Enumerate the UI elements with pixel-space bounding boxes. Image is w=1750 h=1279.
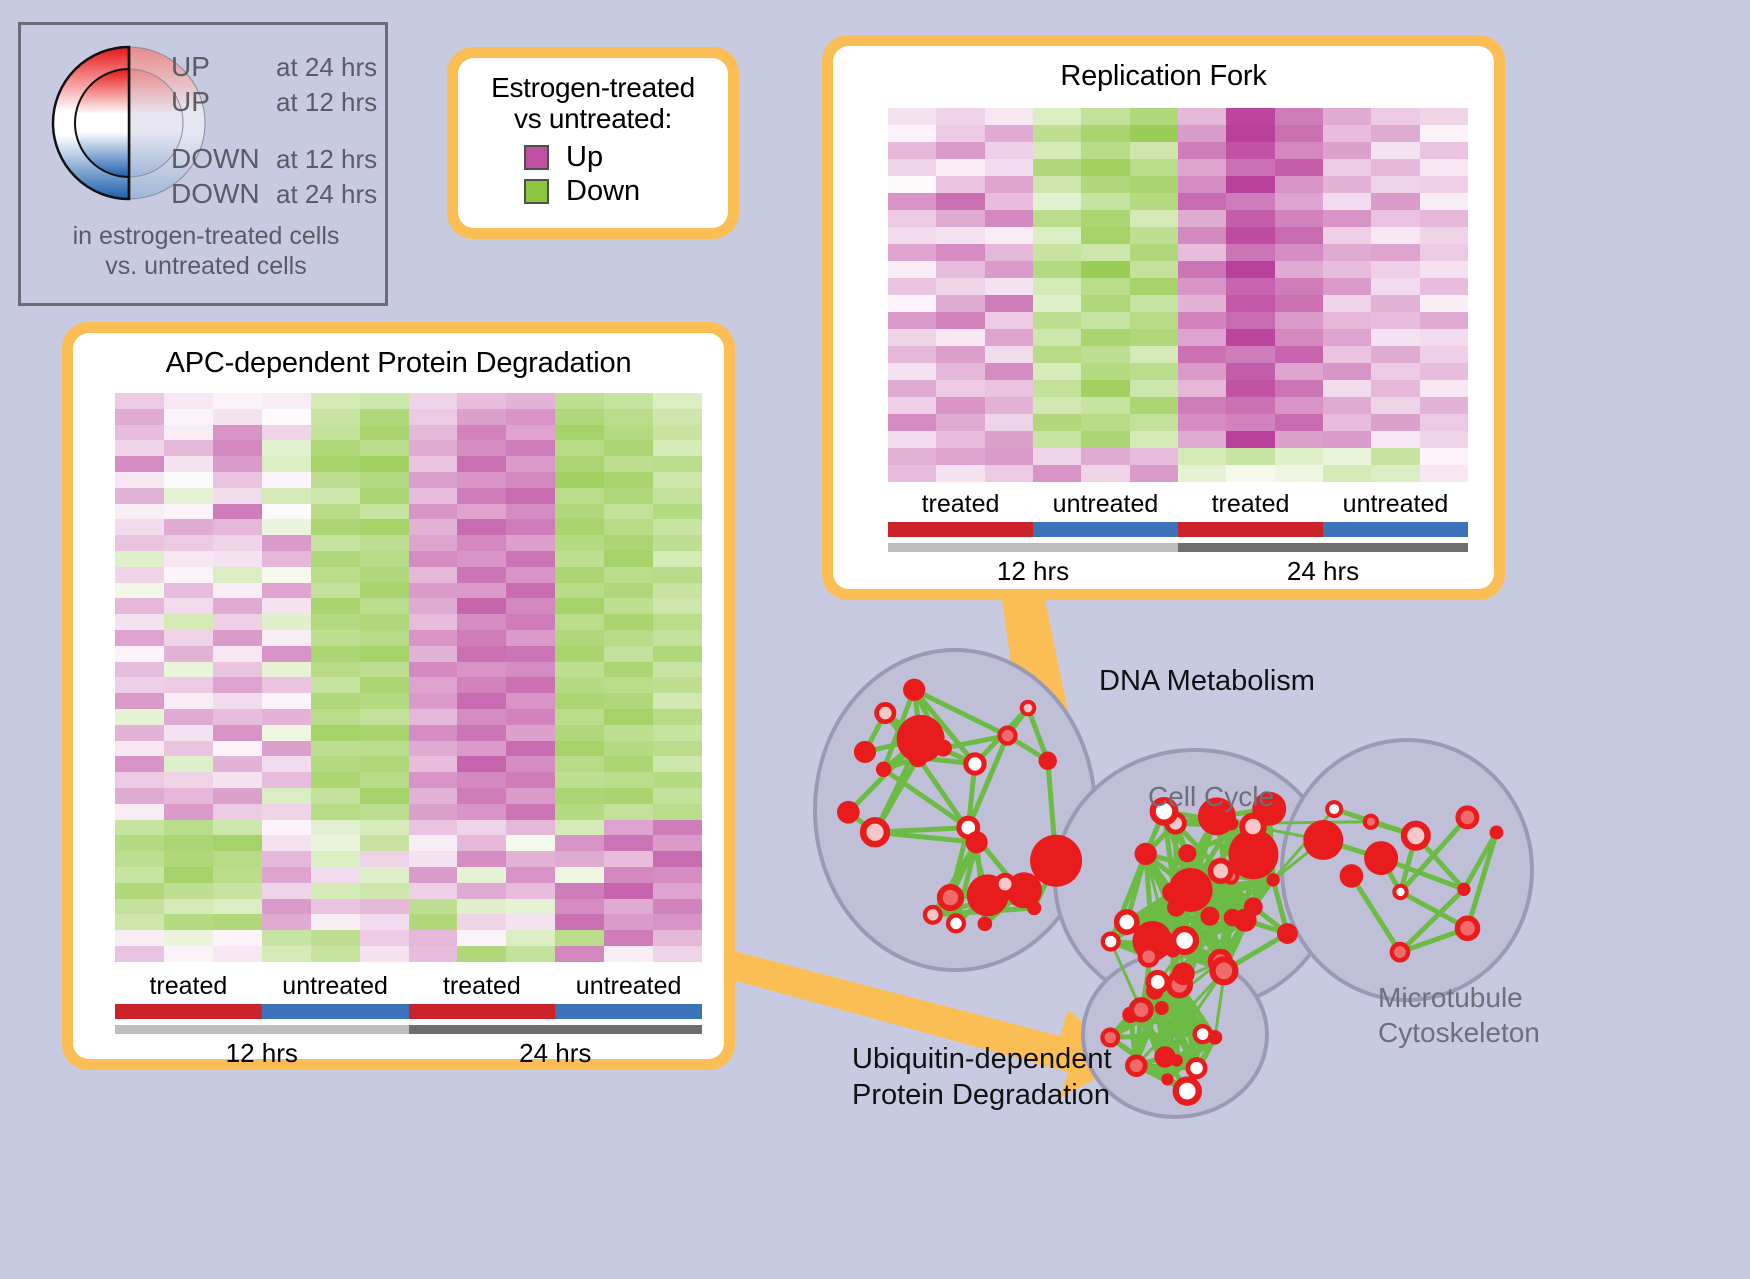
heatmap-cell	[164, 725, 213, 741]
heatmap-cell	[1130, 278, 1178, 295]
heatmap-cell	[1371, 227, 1419, 244]
heatmap-cell	[262, 598, 311, 614]
heatmap-cell	[1033, 142, 1081, 159]
heatmap-cell	[1275, 431, 1323, 448]
heatmap-cell	[653, 472, 702, 488]
network-node	[1000, 728, 1016, 744]
heatmap-cell	[115, 614, 164, 630]
heatmap-cell	[409, 788, 458, 804]
heatmap-cell	[1323, 414, 1371, 431]
heatmap-cell	[1371, 261, 1419, 278]
heatmap-cell	[985, 295, 1033, 312]
heatmap-cell	[1226, 414, 1274, 431]
network-node	[1172, 962, 1195, 985]
heatmap-cell	[457, 899, 506, 915]
heatmap-cell	[1323, 329, 1371, 346]
group-bar-treated-12	[115, 1004, 262, 1019]
heatmap-cell	[1323, 244, 1371, 261]
heatmap-cell	[213, 662, 262, 678]
heatmap-cell	[1081, 142, 1129, 159]
heatmap-cell	[457, 741, 506, 757]
sample-group-labels: treated untreated treated untreated	[888, 490, 1468, 519]
heatmap-cell	[1275, 227, 1323, 244]
network-node	[1490, 826, 1504, 840]
heatmap-cell	[653, 504, 702, 520]
heatmap-cell	[653, 914, 702, 930]
heatmap-cell	[1226, 193, 1274, 210]
heatmap-cell	[360, 930, 409, 946]
heatmap-cell	[985, 227, 1033, 244]
heatmap-cell	[360, 741, 409, 757]
heatmap-cell	[1081, 295, 1129, 312]
heatmap-cell	[653, 519, 702, 535]
heatmap-cell	[1275, 414, 1323, 431]
heatmap-cell	[555, 820, 604, 836]
heatmap-cell	[653, 709, 702, 725]
annotation-replication-fork: treated untreated treated untreated	[888, 490, 1468, 587]
heatmap-cell	[936, 261, 984, 278]
heatmap-cell	[262, 851, 311, 867]
heatmap-cell	[1130, 414, 1178, 431]
heatmap-cell	[604, 835, 653, 851]
heatmap-cell	[936, 380, 984, 397]
heatmap-cell	[360, 709, 409, 725]
heatmap-cell	[164, 804, 213, 820]
heatmap-cell	[1323, 380, 1371, 397]
heatmap-cell	[1275, 346, 1323, 363]
heatmap-cell	[1226, 329, 1274, 346]
heatmap-cell	[936, 312, 984, 329]
heatmap-cell	[653, 425, 702, 441]
heatmap-cell	[115, 930, 164, 946]
heatmap-cell	[1371, 244, 1419, 261]
heatmap-cell	[213, 914, 262, 930]
heatmap-cell	[115, 472, 164, 488]
heatmap-cell	[555, 709, 604, 725]
heatmap-cell	[1420, 329, 1468, 346]
heatmap-cell	[506, 772, 555, 788]
heatmap-cell	[506, 741, 555, 757]
heatmap-cell	[555, 835, 604, 851]
network-node	[877, 704, 894, 721]
network-node	[1364, 841, 1398, 875]
heatmap-cell	[1130, 261, 1178, 278]
heatmap-cell	[506, 456, 555, 472]
heatmap-cell	[888, 142, 936, 159]
heatmap-cell	[360, 519, 409, 535]
heatmap-cell	[360, 535, 409, 551]
heatmap-cell	[1081, 329, 1129, 346]
heatmap-cell	[985, 465, 1033, 482]
timepoint-label-12hrs: 12 hrs	[115, 1038, 409, 1069]
heatmap-cell	[888, 244, 936, 261]
heatmap-cell	[311, 630, 360, 646]
heatmap-cell	[1081, 176, 1129, 193]
heatmap-cell	[1275, 261, 1323, 278]
heatmap-cell	[936, 431, 984, 448]
heatmap-cell	[1226, 465, 1274, 482]
network-node	[1155, 1001, 1169, 1015]
heatmap-cell	[1226, 227, 1274, 244]
heatmap-cell	[311, 788, 360, 804]
heatmap-cell	[936, 295, 984, 312]
heatmap-cell	[936, 244, 984, 261]
heatmap-cell	[311, 725, 360, 741]
heatmap-cell	[1420, 312, 1468, 329]
heatmap-cell	[457, 583, 506, 599]
heatmap-cell	[653, 551, 702, 567]
heatmap-cell	[1081, 244, 1129, 261]
heatmap-cell	[1275, 465, 1323, 482]
heatmap-cell	[653, 456, 702, 472]
heatmap-cell	[1371, 431, 1419, 448]
heatmap-cell	[1081, 431, 1129, 448]
heatmap-cell	[213, 883, 262, 899]
heatmap-cell	[604, 535, 653, 551]
heatmap-cell	[457, 614, 506, 630]
heatmap-cell	[506, 835, 555, 851]
network-node	[1117, 912, 1137, 932]
heatmap-cell	[457, 677, 506, 693]
heatmap-cell	[653, 630, 702, 646]
heatmap-cell	[506, 551, 555, 567]
heatmap-cell	[311, 551, 360, 567]
heatmap-cell	[164, 425, 213, 441]
network-node	[854, 741, 876, 763]
heatmap-cell	[604, 393, 653, 409]
network-node	[1365, 816, 1377, 828]
heatmap-cell	[457, 820, 506, 836]
heatmap-cell	[653, 899, 702, 915]
heatmap-cell	[653, 646, 702, 662]
heatmap-cell	[985, 448, 1033, 465]
heatmap-cell	[311, 614, 360, 630]
heatmap-cell	[262, 425, 311, 441]
heatmap-cell	[360, 867, 409, 883]
heatmap-cell	[653, 598, 702, 614]
heatmap-cell	[1323, 295, 1371, 312]
heatmap-cell	[311, 899, 360, 915]
heatmap-cell	[1275, 312, 1323, 329]
heatmap-cell	[506, 930, 555, 946]
heatmap-cell	[409, 409, 458, 425]
network-node	[966, 755, 984, 773]
heatmap-cell	[1226, 346, 1274, 363]
heatmap-cell	[360, 883, 409, 899]
heatmap-cell	[409, 820, 458, 836]
heatmap-cell	[1323, 227, 1371, 244]
heatmap-cell	[115, 551, 164, 567]
heatmap-cell	[213, 472, 262, 488]
heatmap-cell	[115, 899, 164, 915]
heatmap-cell	[506, 583, 555, 599]
heatmap-cell	[1323, 159, 1371, 176]
heatmap-cell	[311, 693, 360, 709]
heatmap-cell	[604, 409, 653, 425]
heatmap-cell	[1033, 465, 1081, 482]
heatmap-cell	[213, 614, 262, 630]
heatmap-cell	[115, 725, 164, 741]
heatmap-cell	[506, 646, 555, 662]
heatmap-cell	[115, 662, 164, 678]
heatmap-cell	[1130, 125, 1178, 142]
heatmap-cell	[1130, 465, 1178, 482]
heatmap-cell	[311, 851, 360, 867]
heatmap-cell	[653, 883, 702, 899]
heatmap-cell	[1323, 261, 1371, 278]
heatmap-cell	[1130, 448, 1178, 465]
heatmap-cell	[1178, 295, 1226, 312]
heatmap-cell	[555, 519, 604, 535]
heatmap-cell	[555, 899, 604, 915]
heatmap-cell	[457, 725, 506, 741]
heatmap-cell	[1371, 414, 1419, 431]
heatmap-cell	[1033, 312, 1081, 329]
heatmap-cell	[1033, 193, 1081, 210]
heatmap-cell	[213, 930, 262, 946]
heatmap-cell	[1371, 346, 1419, 363]
heatmap-cell	[1420, 142, 1468, 159]
heatmap-cell	[262, 914, 311, 930]
heatmap-cell	[213, 630, 262, 646]
heatmap-cell	[213, 788, 262, 804]
cluster-label-cell-cycle: Cell Cycle	[1148, 781, 1274, 813]
heatmap-cell	[360, 598, 409, 614]
heatmap-cell	[1178, 210, 1226, 227]
heatmap-cell	[457, 646, 506, 662]
heatmap-cell	[653, 662, 702, 678]
network-node	[1303, 820, 1343, 860]
heatmap-cell	[262, 756, 311, 772]
heatmap-cell	[1178, 448, 1226, 465]
heatmap-cell	[1275, 244, 1323, 261]
network-node	[1136, 926, 1148, 938]
heatmap-cell	[1323, 363, 1371, 380]
heatmap-cell	[457, 504, 506, 520]
heatmap-cell	[164, 741, 213, 757]
heatmap-cell	[164, 551, 213, 567]
heatmap-cell	[213, 598, 262, 614]
heatmap-cell	[1275, 108, 1323, 125]
heatmap-cell	[360, 899, 409, 915]
heatmap-cell	[555, 598, 604, 614]
heatmap-cell	[1178, 176, 1226, 193]
heatmap-cell	[311, 804, 360, 820]
heatmap-cell	[888, 210, 936, 227]
heatmap-cell	[262, 440, 311, 456]
heatmap-cell	[653, 488, 702, 504]
heatmap-cell	[1178, 278, 1226, 295]
timepoint-labels: 12 hrs 24 hrs	[888, 556, 1468, 587]
sample-label-untreated-12: untreated	[262, 972, 409, 1001]
heatmap-cell	[457, 914, 506, 930]
heatmap-cell	[115, 456, 164, 472]
heatmap-cell	[213, 693, 262, 709]
heatmap-cell	[936, 329, 984, 346]
heatmap-cell	[1033, 346, 1081, 363]
heatmap-cell	[311, 820, 360, 836]
heatmap-cell	[262, 741, 311, 757]
heatmap-cell	[604, 772, 653, 788]
timepoint-label-24hrs: 24 hrs	[409, 1038, 703, 1069]
heatmap-cell	[555, 583, 604, 599]
heatmap-cell	[653, 804, 702, 820]
heatmap-cell	[1033, 414, 1081, 431]
heatmap-cell	[409, 914, 458, 930]
heatmap-cell	[1081, 227, 1129, 244]
heatmap-cell	[604, 804, 653, 820]
heatmap-cell	[1275, 125, 1323, 142]
heatmap-cell	[409, 614, 458, 630]
group-bar-treated-12	[888, 522, 1033, 537]
heatmap-cell	[555, 946, 604, 962]
heatmap-cell	[311, 662, 360, 678]
heatmap-cell	[555, 725, 604, 741]
heatmap-cell	[262, 662, 311, 678]
heatmap-cell	[1420, 431, 1468, 448]
heatmap-cell	[653, 741, 702, 757]
heatmap-cell	[1081, 193, 1129, 210]
heatmap-cell	[888, 363, 936, 380]
heatmap-cell	[164, 693, 213, 709]
heatmap-cell	[555, 504, 604, 520]
heatmap-cell	[457, 709, 506, 725]
heatmap-cell	[653, 725, 702, 741]
heatmap-cell	[1081, 210, 1129, 227]
heatmap-cell	[115, 583, 164, 599]
network-node	[1266, 873, 1279, 886]
heatmap-cell	[1420, 380, 1468, 397]
heatmap-cell	[457, 930, 506, 946]
heatmap-cell	[262, 820, 311, 836]
heatmap-cell	[1371, 363, 1419, 380]
group-bar-untreated-12	[262, 1004, 409, 1019]
heatmap-cell	[604, 662, 653, 678]
heatmap-cell	[213, 946, 262, 962]
heatmap-cell	[1226, 142, 1274, 159]
network-node	[1154, 1046, 1175, 1067]
heatmap-cell	[985, 278, 1033, 295]
heatmap-cell	[262, 709, 311, 725]
heatmap-cell	[555, 440, 604, 456]
panel-apc-inner: APC-dependent Protein Degradation treate…	[73, 333, 724, 1059]
heatmap-cell	[311, 425, 360, 441]
heatmap-cell	[360, 504, 409, 520]
heatmap-cell	[653, 393, 702, 409]
heatmap-cell	[360, 567, 409, 583]
heatmap-cell	[555, 393, 604, 409]
heatmap-cell	[506, 598, 555, 614]
heatmap-cell	[164, 788, 213, 804]
heatmap-cell	[936, 465, 984, 482]
group-bar-treated-24	[1178, 522, 1323, 537]
heatmap-cell	[213, 393, 262, 409]
heatmap-cell	[506, 820, 555, 836]
heatmap-cell	[115, 440, 164, 456]
heatmap-cell	[1371, 108, 1419, 125]
cluster-label-ubiquitin-dependent-protein-degradation: Ubiquitin-dependentProtein Degradation	[852, 1041, 1112, 1114]
heatmap-cell	[360, 440, 409, 456]
heatmap-cell	[506, 488, 555, 504]
heatmap-cell	[936, 414, 984, 431]
network-node	[1392, 944, 1408, 960]
heatmap-cell	[213, 488, 262, 504]
heatmap-cell	[1275, 363, 1323, 380]
heatmap-cell	[1130, 210, 1178, 227]
heatmap-cell	[1420, 193, 1468, 210]
heatmap-cell	[506, 409, 555, 425]
heatmap-cell	[409, 456, 458, 472]
heatmap-cell	[409, 693, 458, 709]
heatmap-cell	[985, 414, 1033, 431]
heatmap-cell	[604, 883, 653, 899]
heatmap-cell	[457, 456, 506, 472]
heatmap-cell	[409, 488, 458, 504]
heatmap-cell	[888, 159, 936, 176]
heatmap-cell	[555, 488, 604, 504]
heatmap-cell	[1178, 363, 1226, 380]
heatmap-cell	[164, 583, 213, 599]
heatmap-cell	[213, 535, 262, 551]
timepoint-color-bar	[888, 543, 1468, 552]
heatmap-cell	[1226, 210, 1274, 227]
heatmap-cell	[164, 535, 213, 551]
network-node	[1244, 897, 1263, 916]
heatmap-cell	[262, 456, 311, 472]
heatmap-cell	[653, 772, 702, 788]
heatmap-cell	[653, 820, 702, 836]
heatmap-cell	[360, 456, 409, 472]
heatmap-cell	[555, 409, 604, 425]
heatmap-cell	[985, 125, 1033, 142]
heatmap-cell	[1323, 278, 1371, 295]
heatmap-cell	[1081, 312, 1129, 329]
heatmap-cell	[1323, 142, 1371, 159]
heatmap-cell	[1420, 448, 1468, 465]
heatmap-cell	[311, 393, 360, 409]
heatmap-cell	[115, 488, 164, 504]
heatmap-cell	[1323, 397, 1371, 414]
network-node	[876, 762, 891, 777]
heatmap-cell	[653, 535, 702, 551]
heatmap-cell	[115, 946, 164, 962]
network-node	[1224, 909, 1241, 926]
heatmap-cell	[1130, 431, 1178, 448]
heatmap-cell	[936, 278, 984, 295]
sample-label-untreated-24: untreated	[1323, 490, 1468, 519]
heatmap-cell	[115, 535, 164, 551]
network-node	[1135, 843, 1157, 865]
network-node	[1208, 1030, 1223, 1045]
heatmap-cell	[213, 804, 262, 820]
heatmap-cell	[1178, 125, 1226, 142]
heatmap-cell	[888, 108, 936, 125]
figure-canvas: UP at 24 hrs UP at 12 hrs DOWN at 12 hrs…	[0, 0, 1750, 1279]
heatmap-cell	[936, 193, 984, 210]
heatmap-cell	[311, 504, 360, 520]
network-node	[1224, 816, 1238, 830]
heatmap-cell	[1371, 125, 1419, 142]
heatmap-cell	[1033, 380, 1081, 397]
heatmap-cell	[653, 867, 702, 883]
heatmap-cell	[506, 677, 555, 693]
heatmap-cell	[1420, 295, 1468, 312]
heatmap-cell	[555, 677, 604, 693]
heatmap-cell	[985, 108, 1033, 125]
heatmap-cell	[985, 380, 1033, 397]
heatmap-cell	[888, 329, 936, 346]
heatmap-cell	[311, 456, 360, 472]
